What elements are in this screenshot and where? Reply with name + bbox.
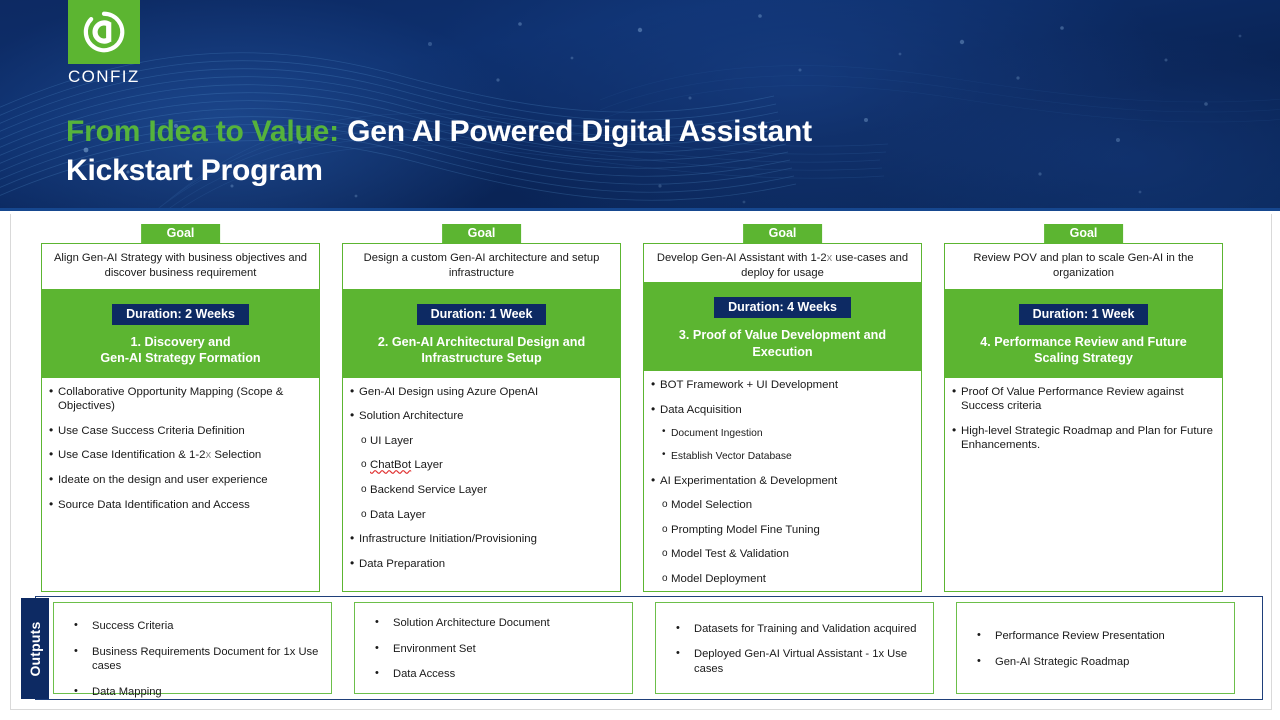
goal-description: Develop Gen-AI Assistant with 1-2x use-c… [644,244,921,283]
phase-header-band: Duration: 4 Weeks3. Proof of Value Devel… [644,283,921,371]
goal-description: Design a custom Gen-AI architecture and … [343,244,620,290]
activity-item: Data Acquisition [649,403,915,418]
title-line-1: From Idea to Value: Gen AI Powered Digit… [66,112,1166,151]
title-accent-text: From Idea to Value: [66,115,339,148]
activity-item: ChatBot Layer [348,458,614,473]
output-item: Solution Architecture Document [363,616,624,631]
activity-item: Model Deployment [649,572,915,587]
goal-badge: Goal [1044,224,1124,243]
phase-card: Align Gen-AI Strategy with business obje… [41,243,320,592]
phase-column: GoalDesign a custom Gen-AI architecture … [342,224,621,592]
phase-title-line-1: 1. Discovery and [52,334,309,350]
output-item: Performance Review Presentation [965,629,1226,644]
activity-item: Solution Architecture [348,409,614,424]
phase-title-line-1: 2. Gen-AI Architectural Design and [353,334,610,350]
activity-item: Infrastructure Initiation/Provisioning [348,532,614,547]
phase-column: GoalAlign Gen-AI Strategy with business … [41,224,320,592]
activity-item: Backend Service Layer [348,483,614,498]
title-line-2: Kickstart Program [66,151,1166,190]
brand-logo: CONFIZ [68,0,142,87]
activity-item: Collaborative Opportunity Mapping (Scope… [47,385,313,414]
activity-item: Ideate on the design and user experience [47,473,313,488]
activity-item: High-level Strategic Roadmap and Plan fo… [950,424,1216,453]
activity-item: Use Case Identification & 1-2x Selection [47,448,313,463]
output-item: Datasets for Training and Validation acq… [664,622,925,637]
phase-columns: GoalAlign Gen-AI Strategy with business … [41,224,1263,592]
phase-card: Develop Gen-AI Assistant with 1-2x use-c… [643,243,922,592]
activity-item: Proof Of Value Performance Review agains… [950,385,1216,414]
spellcheck-word: ChatBot [370,459,411,471]
phase-title-line-2: Scaling Strategy [955,350,1212,366]
outputs-label-text: Outputs [27,621,43,676]
brand-wordmark: CONFIZ [68,67,142,87]
activity-item: Data Layer [348,508,614,523]
dim-multiplier: x [827,252,833,264]
phase-card: Review POV and plan to scale Gen-AI in t… [944,243,1223,592]
outputs-label-tab: Outputs [21,598,49,699]
title-main-text: Gen AI Powered Digital Assistant [339,115,812,148]
activity-item: Model Test & Validation [649,547,915,562]
activity-list: Proof Of Value Performance Review agains… [945,378,1222,591]
activity-item: Data Preparation [348,557,614,572]
output-item: Business Requirements Document for 1x Us… [62,645,323,674]
activity-list: BOT Framework + UI DevelopmentData Acqui… [644,371,921,592]
activity-item: Model Selection [649,498,915,513]
output-card: Solution Architecture DocumentEnvironmen… [354,602,633,694]
slide-title: From Idea to Value: Gen AI Powered Digit… [66,112,1166,190]
phase-header-band: Duration: 1 Week2. Gen-AI Architectural … [343,290,620,378]
phase-title: 1. Discovery andGen-AI Strategy Formatio… [48,334,313,367]
activity-item: Gen-AI Design using Azure OpenAI [348,385,614,400]
goal-badge: Goal [442,224,522,243]
activity-item: BOT Framework + UI Development [649,378,915,393]
phase-title-line-2: Execution [654,344,911,360]
phase-title: 4. Performance Review and FutureScaling … [951,334,1216,367]
confiz-c-logo-icon [68,0,140,64]
header-divider [0,208,1280,211]
activity-item: Prompting Model Fine Tuning [649,523,915,538]
output-item: Environment Set [363,642,624,657]
goal-badge: Goal [743,224,823,243]
output-item: Deployed Gen-AI Virtual Assistant - 1x U… [664,647,925,676]
goal-badge: Goal [141,224,221,243]
duration-badge: Duration: 4 Weeks [714,297,851,318]
goal-description: Align Gen-AI Strategy with business obje… [42,244,319,290]
output-card: Performance Review PresentationGen-AI St… [956,602,1235,694]
slide-header: CONFIZ From Idea to Value: Gen AI Powere… [0,0,1280,211]
phase-title-line-2: Gen-AI Strategy Formation [52,350,309,366]
phase-title-line-1: 3. Proof of Value Development and [654,327,911,343]
phase-column: GoalReview POV and plan to scale Gen-AI … [944,224,1223,592]
activity-item: Source Data Identification and Access [47,498,313,513]
outputs-cards: Success CriteriaBusiness Requirements Do… [53,602,1273,694]
phase-header-band: Duration: 1 Week4. Performance Review an… [945,290,1222,378]
duration-badge: Duration: 1 Week [417,304,547,325]
output-card: Datasets for Training and Validation acq… [655,602,934,694]
phase-column: GoalDevelop Gen-AI Assistant with 1-2x u… [643,224,922,592]
output-item: Data Access [363,667,624,682]
slide-body: GoalAlign Gen-AI Strategy with business … [10,214,1272,710]
goal-description: Review POV and plan to scale Gen-AI in t… [945,244,1222,290]
slide-root: CONFIZ From Idea to Value: Gen AI Powere… [0,0,1280,720]
phase-title-line-1: 4. Performance Review and Future [955,334,1212,350]
activity-item: Establish Vector Database [649,450,915,463]
activity-item: Use Case Success Criteria Definition [47,424,313,439]
activity-item: UI Layer [348,434,614,449]
dim-multiplier: x [206,449,212,461]
activity-item: AI Experimentation & Development [649,474,915,489]
outputs-section: Outputs Success CriteriaBusiness Require… [21,596,1263,700]
phase-title: 2. Gen-AI Architectural Design andInfras… [349,334,614,367]
output-item: Gen-AI Strategic Roadmap [965,655,1226,670]
activity-item: Document Ingestion [649,427,915,440]
phase-title: 3. Proof of Value Development andExecuti… [650,327,915,360]
phase-header-band: Duration: 2 Weeks1. Discovery andGen-AI … [42,290,319,378]
activity-list: Gen-AI Design using Azure OpenAISolution… [343,378,620,591]
activity-list: Collaborative Opportunity Mapping (Scope… [42,378,319,591]
output-item: Success Criteria [62,619,323,634]
duration-badge: Duration: 2 Weeks [112,304,249,325]
phase-card: Design a custom Gen-AI architecture and … [342,243,621,592]
output-item: Data Mapping [62,685,323,700]
phase-title-line-2: Infrastructure Setup [353,350,610,366]
output-card: Success CriteriaBusiness Requirements Do… [53,602,332,694]
duration-badge: Duration: 1 Week [1019,304,1149,325]
